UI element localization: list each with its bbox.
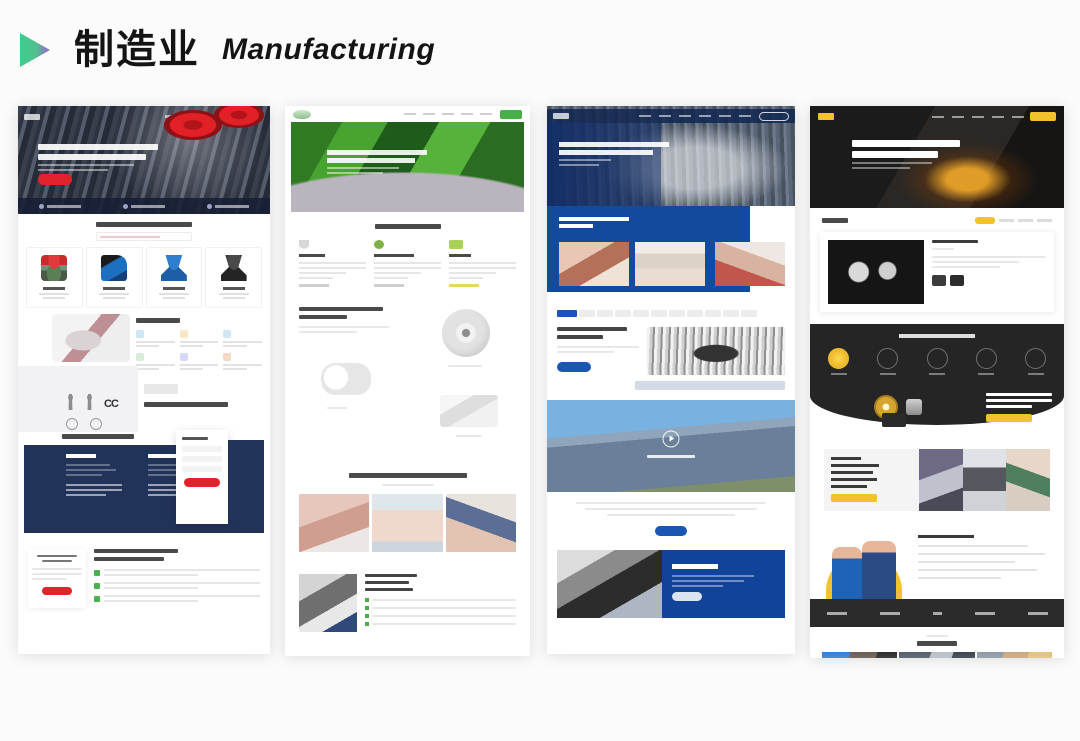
section-heading — [917, 641, 957, 646]
capability-section — [824, 449, 1050, 511]
machinery-navbar[interactable] — [547, 109, 795, 123]
baby-wipes-photo — [299, 494, 369, 552]
play-triangle-icon — [18, 31, 52, 69]
tab-item[interactable] — [579, 310, 595, 317]
mockup-card-industrial-valve[interactable]: CC — [18, 106, 270, 654]
bullet-icon — [365, 622, 369, 626]
feature-item — [136, 353, 175, 370]
what-we-offer-section — [18, 434, 270, 533]
molding-logo[interactable] — [818, 113, 834, 120]
machinery-nav-items[interactable] — [639, 115, 751, 117]
sanitary-pad-photo — [372, 494, 442, 552]
key-features-block — [136, 318, 262, 370]
molding-nav-items[interactable] — [932, 116, 1024, 118]
paper-roll-icon — [442, 309, 490, 357]
tab-item[interactable] — [705, 310, 721, 317]
services-panel — [810, 324, 1064, 391]
blue-butterfly-valve-icon — [90, 253, 139, 283]
valve-features-section: CC — [18, 314, 270, 432]
molding-footer-nav[interactable] — [810, 599, 1064, 627]
iso-mark-icon — [66, 394, 75, 410]
product-name — [163, 287, 185, 290]
product-tabs[interactable] — [975, 217, 1052, 224]
hygiene-feature-row — [285, 240, 530, 287]
section-heading — [62, 434, 134, 439]
tab-active[interactable] — [975, 217, 995, 224]
feature-item — [449, 240, 516, 287]
product-card[interactable] — [205, 247, 262, 308]
hygiene-nav-cta[interactable] — [500, 110, 522, 119]
check-icon — [94, 583, 100, 589]
section-heading — [136, 318, 180, 323]
molding-hero-banner — [810, 106, 1064, 208]
trust-card — [28, 549, 86, 608]
granule-icon — [321, 363, 371, 395]
capability-images — [919, 449, 1050, 511]
page-title: 制造业 — [74, 30, 200, 70]
feature-item — [223, 353, 262, 370]
offer-column-heading — [66, 454, 96, 458]
page-subtitle: Manufacturing — [222, 35, 435, 65]
tab-item[interactable] — [651, 310, 667, 317]
list-item — [94, 595, 260, 602]
footer-link[interactable] — [975, 612, 995, 615]
molding-navbar[interactable] — [810, 110, 1064, 123]
product-name — [103, 287, 125, 290]
truck-icon[interactable] — [1025, 348, 1046, 375]
list-item — [365, 614, 516, 618]
assembly-icon[interactable] — [976, 348, 997, 375]
blue-gate-valve-icon — [150, 253, 199, 283]
inquiry-form-card[interactable] — [176, 430, 228, 524]
hygiene-logo[interactable] — [293, 110, 311, 119]
product-showcase-card[interactable] — [820, 232, 1054, 312]
cert-seal-icon — [90, 418, 102, 430]
product-name — [43, 287, 65, 290]
tab-item[interactable] — [687, 310, 703, 317]
adult-care-photo — [446, 494, 516, 552]
thumb[interactable] — [932, 275, 946, 286]
certificate-icon — [299, 240, 309, 249]
mockup-card-custom-molding[interactable] — [810, 106, 1064, 658]
expertise-content — [365, 574, 516, 632]
gear-icon[interactable] — [828, 348, 849, 375]
feature-heading — [299, 254, 325, 257]
list-item — [94, 569, 260, 576]
qualified-certification-block — [144, 384, 262, 407]
machine-tabs[interactable] — [557, 310, 785, 317]
mockup-card-hygiene-raw-material[interactable] — [285, 106, 530, 656]
badge-item — [39, 204, 81, 209]
feature-heading — [374, 254, 414, 257]
tab-item[interactable] — [597, 310, 613, 317]
send-inquiry-button[interactable] — [184, 478, 220, 487]
our-best-header — [810, 208, 1064, 224]
read-more-button[interactable] — [831, 494, 877, 502]
valve-hero-cta[interactable] — [38, 174, 72, 185]
molding-nav-cta[interactable] — [1030, 112, 1056, 121]
services-copy — [986, 393, 1052, 422]
mold-part-photo — [828, 240, 924, 304]
mold-part-photo — [906, 399, 922, 415]
product-card[interactable] — [26, 247, 83, 308]
video-description — [547, 492, 795, 536]
valve-search-input[interactable] — [96, 232, 192, 241]
product-name — [327, 407, 347, 409]
application-image-row — [285, 494, 530, 552]
quality-assurance-section — [557, 550, 785, 618]
view-more-button[interactable] — [557, 362, 591, 372]
feature-item — [180, 353, 219, 370]
polish-icon[interactable] — [927, 348, 948, 375]
section-heading — [672, 564, 718, 569]
machining-photo — [919, 449, 963, 511]
section-heading — [375, 224, 441, 229]
list-item — [365, 606, 516, 610]
check-icon — [94, 596, 100, 602]
ce-mark-icon: CC — [104, 399, 118, 410]
tab-item[interactable] — [741, 310, 757, 317]
section-heading — [349, 473, 467, 478]
badge-item — [123, 204, 165, 209]
hygiene-nav-items[interactable] — [404, 113, 492, 115]
play-icon[interactable] — [663, 430, 680, 447]
valve-products-section — [18, 214, 270, 308]
section-heading — [559, 217, 629, 231]
offer-side-panel — [228, 440, 264, 520]
section-heading — [96, 222, 192, 227]
assembly-photo — [1006, 449, 1050, 511]
thumb[interactable] — [950, 275, 964, 286]
footer-link[interactable] — [1028, 612, 1048, 615]
check-icon — [94, 570, 100, 576]
list-item — [365, 598, 516, 602]
footer-link[interactable] — [827, 612, 847, 615]
more-button[interactable] — [655, 526, 687, 536]
machine-detail-row — [557, 327, 785, 375]
offer-column-heading — [148, 454, 178, 458]
recommendations-section — [810, 525, 1064, 599]
trust-section — [18, 533, 270, 608]
mockup-card-hygiene-machinery[interactable] — [547, 106, 795, 654]
machinery-nav-cta[interactable] — [759, 112, 789, 121]
product-name — [223, 287, 245, 290]
tab-item[interactable] — [723, 310, 739, 317]
section-heading — [144, 402, 228, 407]
valve-hero-banner — [18, 106, 270, 214]
factory-photo — [299, 574, 357, 632]
api-mark-icon — [85, 394, 94, 410]
product-tile[interactable] — [715, 242, 785, 286]
inspection-photo — [963, 449, 1007, 511]
page-header: 制造业 Manufacturing — [0, 0, 1080, 100]
tab-item[interactable] — [1018, 219, 1033, 222]
tab-item[interactable] — [999, 219, 1014, 222]
tab-item[interactable] — [633, 310, 649, 317]
tab-item[interactable] — [669, 310, 685, 317]
machine-caption-bar — [635, 381, 785, 390]
valve-hero-headline — [38, 144, 158, 171]
product-thumbs[interactable] — [932, 275, 1046, 286]
machinery-hero-headline — [559, 142, 669, 166]
service-icons-row — [822, 348, 1052, 375]
tab-active[interactable] — [557, 310, 577, 317]
product-card[interactable] — [86, 247, 143, 308]
valve-logo[interactable] — [24, 114, 40, 120]
product-name — [448, 365, 482, 367]
research-icon — [449, 240, 463, 249]
trust-content — [94, 549, 260, 608]
bullet-icon — [365, 598, 369, 602]
product-info — [932, 240, 1046, 304]
cert-seal-icon — [66, 418, 78, 430]
worker-photo — [832, 547, 862, 599]
qa-more-button[interactable] — [672, 592, 702, 601]
fabric-sheet-icon — [440, 395, 498, 427]
section-heading — [899, 334, 975, 338]
contact-us-button[interactable] — [42, 587, 72, 595]
feature-item — [136, 330, 175, 347]
recommendation-list — [918, 535, 1056, 585]
product-tile[interactable] — [635, 242, 705, 286]
mockup-board: CC — [0, 100, 1080, 660]
machinery-logo[interactable] — [553, 113, 569, 119]
inspector-photo — [557, 550, 662, 618]
bullet-icon — [365, 614, 369, 618]
black-gate-valve-icon — [209, 253, 258, 283]
machine-info — [557, 327, 639, 375]
hygiene-navbar[interactable] — [285, 106, 530, 122]
capability-copy — [824, 449, 919, 511]
tab-item[interactable] — [1037, 219, 1052, 222]
press-icon[interactable] — [877, 348, 898, 375]
list-item — [365, 622, 516, 626]
factory-video-banner[interactable] — [547, 400, 795, 492]
hygiene-expertise-section — [285, 552, 530, 632]
services-section — [810, 324, 1064, 435]
valve-product-grid — [18, 241, 270, 308]
badge-item — [207, 204, 249, 209]
molding-hero-headline — [852, 140, 960, 169]
valve-hero-badges — [18, 198, 270, 214]
offer-column — [66, 454, 122, 524]
section-heading — [918, 535, 974, 538]
hygiene-hero-banner — [291, 122, 524, 212]
manufacturing-showcase-page: 制造业 Manufacturing — [0, 0, 1080, 741]
machinery-hero-banner — [547, 106, 795, 206]
qa-panel — [662, 550, 785, 618]
tab-item[interactable] — [615, 310, 631, 317]
mold-part-photo — [882, 413, 906, 427]
hygiene-why-section — [285, 212, 530, 287]
machine-detail-section — [547, 302, 795, 390]
what-to-make-section — [547, 206, 795, 302]
footer-logo[interactable] — [933, 612, 942, 615]
feature-link[interactable] — [374, 284, 404, 287]
learn-more-button[interactable] — [986, 414, 1032, 422]
product-card[interactable] — [146, 247, 203, 308]
feature-heading — [449, 254, 471, 257]
footer-link[interactable] — [880, 612, 900, 615]
bottom-fade-overlay — [0, 651, 1080, 741]
feature-item — [223, 330, 262, 347]
materials-heading-block — [299, 307, 389, 333]
feature-link[interactable] — [449, 284, 479, 287]
product-tile[interactable] — [559, 242, 629, 286]
feature-item — [299, 240, 366, 287]
bullet-icon — [365, 606, 369, 610]
globe-icon — [374, 240, 384, 249]
machine-photo — [647, 327, 785, 375]
list-item — [94, 582, 260, 589]
feature-grid — [136, 330, 262, 370]
valve-photo — [52, 314, 130, 362]
worker-photo — [862, 541, 896, 599]
valve-wheel-icon — [214, 106, 264, 128]
feature-item — [374, 240, 441, 287]
red-ball-valve-icon — [30, 253, 79, 283]
hygiene-applications-section — [285, 467, 530, 552]
product-name — [456, 435, 482, 437]
section-heading — [822, 218, 848, 223]
trust-checklist — [94, 569, 260, 602]
feature-link[interactable] — [299, 284, 329, 287]
hygiene-hero-headline — [327, 150, 427, 174]
feature-item — [180, 330, 219, 347]
hygiene-materials-section — [285, 307, 530, 467]
video-label — [647, 455, 695, 458]
certification-marks: CC — [66, 394, 118, 410]
